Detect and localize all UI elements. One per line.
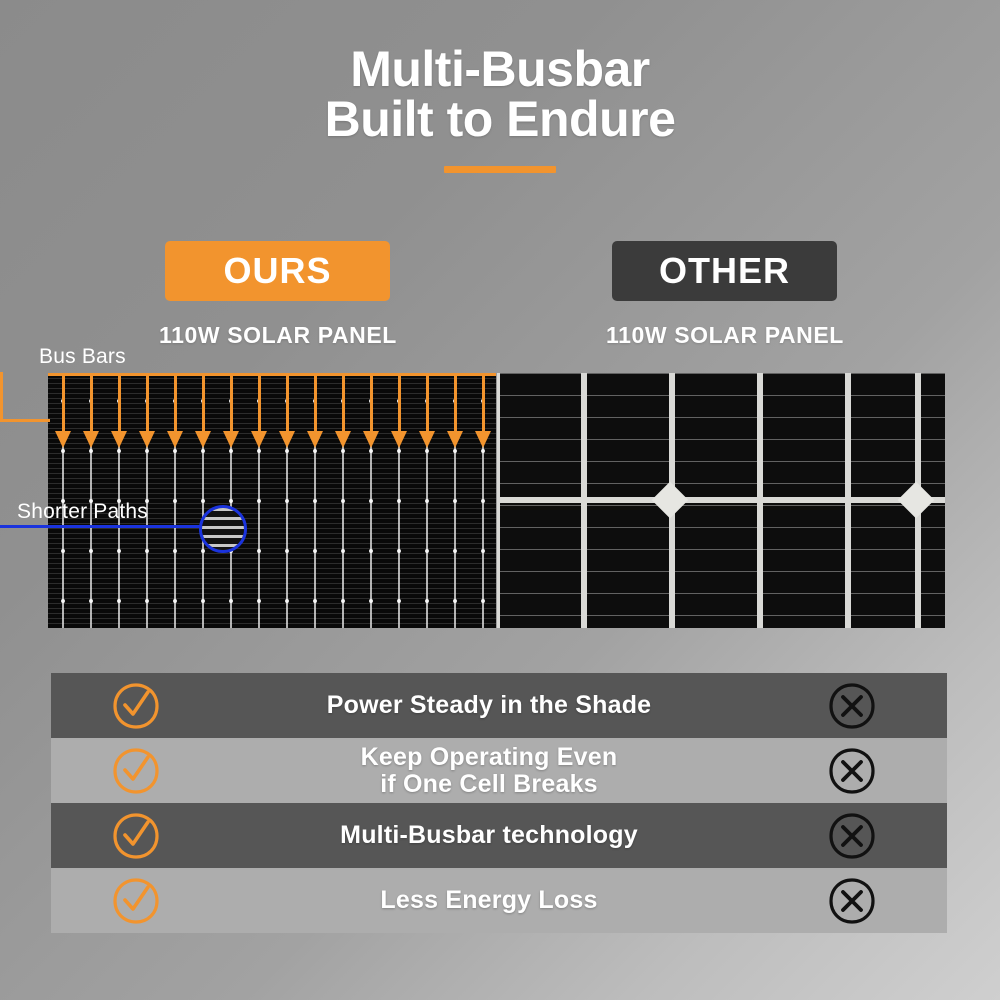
other-verdict-cell bbox=[757, 875, 947, 927]
solar-panel-other-image bbox=[497, 373, 945, 628]
caption-other-panel: 110W SOLAR PANEL bbox=[584, 322, 866, 349]
circled-cross-icon bbox=[828, 875, 876, 927]
magnifier-callout-icon bbox=[199, 505, 247, 553]
other-verdict-cell bbox=[757, 745, 947, 797]
ours-verdict-cell bbox=[51, 745, 221, 797]
magnified-finger-lines bbox=[202, 508, 244, 550]
feature-label: Multi-Busbar technology bbox=[221, 822, 757, 849]
current-flow-arrow-icon bbox=[118, 373, 121, 431]
comparison-row: Power Steady in the Shade bbox=[51, 673, 947, 738]
circled-cross-icon bbox=[828, 680, 876, 732]
current-flow-arrow-icon bbox=[370, 373, 373, 431]
infographic-root: Multi-Busbar Built to Endure OURS 110W S… bbox=[0, 0, 1000, 1000]
feature-comparison-table: Power Steady in the Shade Keep Operating… bbox=[51, 673, 947, 933]
circled-cross-icon bbox=[828, 810, 876, 862]
current-flow-arrow-icon bbox=[62, 373, 65, 431]
callout-bus-bars-label: Bus Bars bbox=[39, 345, 126, 369]
circled-check-icon bbox=[112, 810, 160, 862]
current-flow-arrow-icon bbox=[426, 373, 429, 431]
badge-other: OTHER bbox=[612, 241, 837, 301]
callout-bus-bars-leader-stub bbox=[0, 419, 12, 422]
callout-bus-bars-leader-line bbox=[0, 372, 50, 422]
comparison-row: Less Energy Loss bbox=[51, 868, 947, 933]
badge-ours: OURS bbox=[165, 241, 390, 301]
current-flow-arrow-icon bbox=[342, 373, 345, 431]
ours-verdict-cell bbox=[51, 810, 221, 862]
feature-label: Less Energy Loss bbox=[221, 887, 757, 914]
current-flow-arrow-icon bbox=[230, 373, 233, 431]
current-flow-arrow-icon bbox=[146, 373, 149, 431]
current-flow-arrow-icon bbox=[398, 373, 401, 431]
current-flow-arrow-icon bbox=[174, 373, 177, 431]
circled-cross-icon bbox=[828, 745, 876, 797]
current-flow-arrows bbox=[48, 373, 496, 463]
current-flow-arrow-icon bbox=[90, 373, 93, 431]
badge-other-label: OTHER bbox=[659, 250, 790, 292]
current-flow-arrow-icon bbox=[202, 373, 205, 431]
callout-shorter-paths-leader-line bbox=[0, 525, 200, 528]
circled-check-icon bbox=[112, 875, 160, 927]
circled-check-icon bbox=[112, 745, 160, 797]
ours-verdict-cell bbox=[51, 875, 221, 927]
badge-ours-label: OURS bbox=[223, 250, 331, 292]
callout-shorter-paths-label: Shorter Paths bbox=[17, 500, 148, 524]
page-title: Multi-Busbar Built to Endure bbox=[0, 44, 1000, 173]
current-flow-arrow-icon bbox=[258, 373, 261, 431]
comparison-row: Multi-Busbar technology bbox=[51, 803, 947, 868]
title-line-1: Multi-Busbar bbox=[0, 44, 1000, 94]
other-verdict-cell bbox=[757, 810, 947, 862]
title-underline-accent bbox=[444, 166, 556, 173]
title-line-2: Built to Endure bbox=[0, 94, 1000, 144]
current-flow-arrow-icon bbox=[314, 373, 317, 431]
current-flow-arrow-icon bbox=[286, 373, 289, 431]
circled-check-icon bbox=[112, 680, 160, 732]
comparison-row: Keep Operating Even if One Cell Breaks bbox=[51, 738, 947, 803]
feature-label: Keep Operating Even if One Cell Breaks bbox=[221, 744, 757, 798]
current-flow-arrow-icon bbox=[454, 373, 457, 431]
feature-label: Power Steady in the Shade bbox=[221, 692, 757, 719]
current-flow-arrow-icon bbox=[482, 373, 485, 431]
ours-verdict-cell bbox=[51, 680, 221, 732]
caption-ours-panel: 110W SOLAR PANEL bbox=[137, 322, 419, 349]
other-verdict-cell bbox=[757, 680, 947, 732]
